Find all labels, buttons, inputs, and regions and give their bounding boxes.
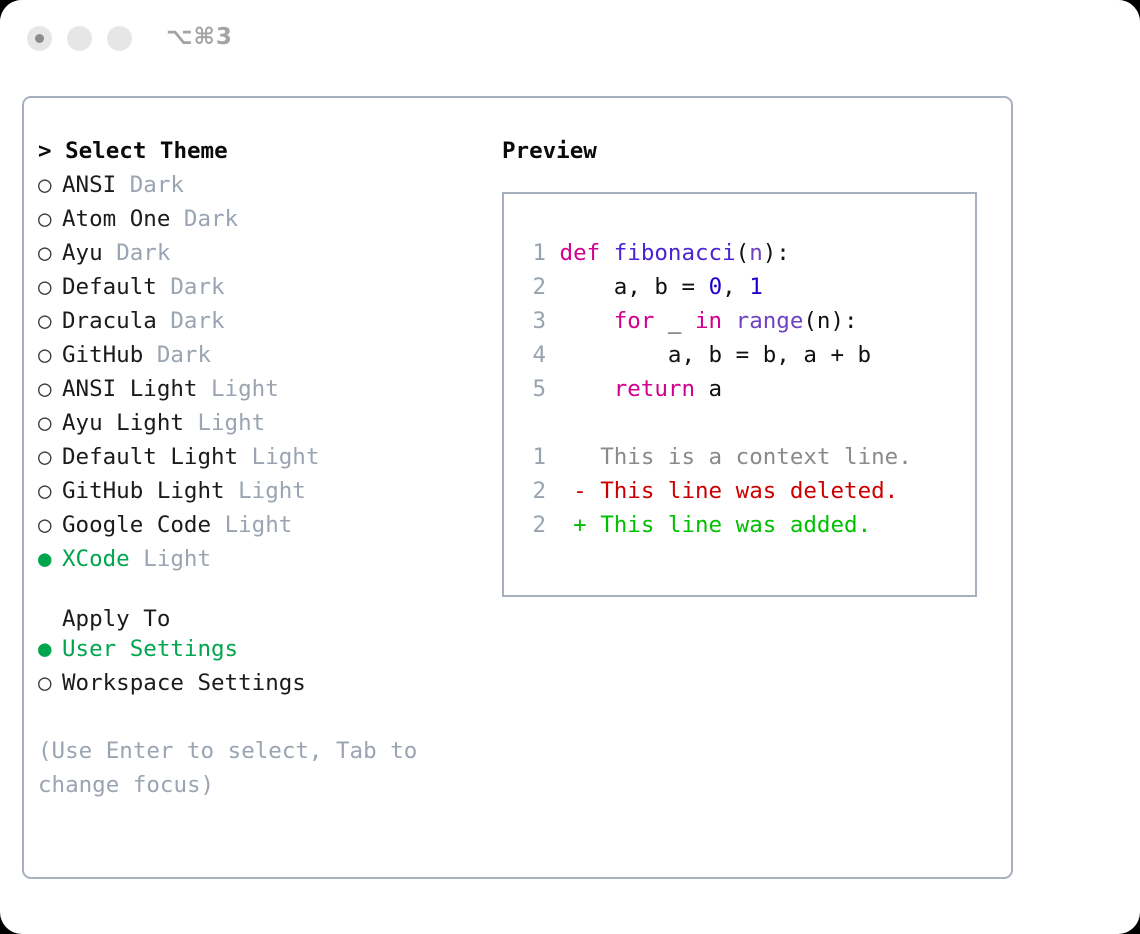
content-panel: > Select Theme ○ANSI Dark○Atom One Dark○… <box>22 96 1013 879</box>
line-number: 2 <box>520 474 546 508</box>
radio-unselected-icon[interactable]: ○ <box>38 236 62 270</box>
diff-line: 1 This is a context line. <box>520 440 969 474</box>
radio-unselected-icon[interactable]: ○ <box>38 338 62 372</box>
diff-text: This line was deleted. <box>600 478 898 504</box>
theme-list-item[interactable]: ○Default Dark <box>38 270 478 304</box>
radio-unselected-icon[interactable]: ○ <box>38 304 62 338</box>
code-gutter-space <box>546 240 560 266</box>
line-number: 2 <box>520 508 546 542</box>
code-token: 0 <box>709 274 723 300</box>
radio-unselected-icon[interactable]: ○ <box>38 406 62 440</box>
code-token: a, b = b, a + b <box>560 342 872 368</box>
theme-variant: Dark <box>157 342 211 368</box>
radio-unselected-icon[interactable]: ○ <box>38 440 62 474</box>
theme-variant: Dark <box>170 274 224 300</box>
theme-variant: Light <box>211 376 279 402</box>
theme-name: GitHub Light <box>62 478 238 504</box>
keyboard-hint-text: (Use Enter to select, Tab to change focu… <box>38 734 438 802</box>
theme-variant: Dark <box>170 308 224 334</box>
code-token <box>560 376 614 402</box>
theme-variant: Light <box>143 546 211 572</box>
theme-variant: Dark <box>184 206 238 232</box>
line-number: 3 <box>520 304 546 338</box>
code-token: in <box>695 308 722 334</box>
preview-box: 1 def fibonacci(n):2 a, b = 0, 13 for _ … <box>502 192 977 597</box>
code-gutter-space <box>546 342 560 368</box>
code-line: 5 return a <box>520 372 969 406</box>
theme-list-item[interactable]: ○Dracula Dark <box>38 304 478 338</box>
radio-unselected-icon[interactable]: ○ <box>38 666 62 700</box>
radio-unselected-icon[interactable]: ○ <box>38 474 62 508</box>
theme-list-item[interactable]: ○Ayu Light Light <box>38 406 478 440</box>
theme-variant: Light <box>252 444 320 470</box>
line-number: 1 <box>520 440 546 474</box>
window-minimize-button[interactable] <box>67 26 92 51</box>
code-token <box>600 240 614 266</box>
radio-unselected-icon[interactable]: ○ <box>38 270 62 304</box>
select-theme-title: Select Theme <box>65 138 228 164</box>
select-theme-prefix: > <box>38 138 65 164</box>
code-token: ): <box>763 240 790 266</box>
theme-variant: Dark <box>130 172 184 198</box>
code-token: for <box>614 308 655 334</box>
code-token: n <box>749 240 763 266</box>
theme-name: XCode <box>62 546 143 572</box>
line-number: 2 <box>520 270 546 304</box>
code-token: fibonacci <box>614 240 736 266</box>
diff-line: 2 + This line was added. <box>520 508 969 542</box>
code-line: 1 def fibonacci(n): <box>520 236 969 270</box>
code-token: _ <box>654 308 695 334</box>
code-token: , <box>722 274 749 300</box>
theme-variant: Dark <box>116 240 170 266</box>
theme-name: ANSI Light <box>62 376 211 402</box>
code-line: 4 a, b = b, a + b <box>520 338 969 372</box>
theme-name: Dracula <box>62 308 170 334</box>
theme-name: Default <box>62 274 170 300</box>
theme-variant: Light <box>197 410 265 436</box>
code-line: 2 a, b = 0, 1 <box>520 270 969 304</box>
code-gutter-space <box>546 308 560 334</box>
code-token: return <box>614 376 695 402</box>
radio-unselected-icon[interactable]: ○ <box>38 168 62 202</box>
code-token: ( <box>736 240 750 266</box>
apply-to-item[interactable]: ●User Settings <box>38 632 478 666</box>
window-maximize-button[interactable] <box>107 26 132 51</box>
theme-list-item[interactable]: ●XCode Light <box>38 542 478 576</box>
code-token: a <box>695 376 722 402</box>
apply-to-label: User Settings <box>62 636 238 662</box>
theme-name: Atom One <box>62 206 184 232</box>
apply-to-list: ●User Settings○Workspace Settings <box>38 632 478 700</box>
code-token: (n): <box>803 308 857 334</box>
select-theme-heading: > Select Theme <box>38 134 478 168</box>
theme-name: GitHub <box>62 342 157 368</box>
theme-name: Ayu Light <box>62 410 197 436</box>
diff-text: This line was added. <box>600 512 871 538</box>
code-diff-separator <box>520 406 969 440</box>
diff-line: 2 - This line was deleted. <box>520 474 969 508</box>
radio-unselected-icon[interactable]: ○ <box>38 372 62 406</box>
line-number: 1 <box>520 236 546 270</box>
theme-selection-column: > Select Theme ○ANSI Dark○Atom One Dark○… <box>38 134 478 802</box>
preview-column: Preview 1 def fibonacci(n):2 a, b = 0, 1… <box>502 134 977 597</box>
theme-name: Default Light <box>62 444 252 470</box>
apply-to-label: Workspace Settings <box>62 670 306 696</box>
theme-list-item[interactable]: ○Ayu Dark <box>38 236 478 270</box>
radio-selected-icon[interactable]: ● <box>38 632 62 666</box>
window-close-button[interactable] <box>27 26 52 51</box>
line-number: 4 <box>520 338 546 372</box>
theme-name: ANSI <box>62 172 130 198</box>
code-token <box>560 308 614 334</box>
theme-list-item[interactable]: ○Google Code Light <box>38 508 478 542</box>
diff-sign: - <box>546 478 600 504</box>
theme-list-item[interactable]: ○ANSI Light Light <box>38 372 478 406</box>
diff-sign: + <box>546 512 600 538</box>
theme-variant: Light <box>238 478 306 504</box>
code-token: def <box>560 240 601 266</box>
code-gutter-space <box>546 274 560 300</box>
code-token <box>722 308 736 334</box>
line-number: 5 <box>520 372 546 406</box>
code-line: 3 for _ in range(n): <box>520 304 969 338</box>
app-window: ⌥⌘3 > Select Theme ○ANSI Dark○Atom One D… <box>0 0 1140 934</box>
theme-list-item[interactable]: ○ANSI Dark <box>38 168 478 202</box>
theme-name: Ayu <box>62 240 116 266</box>
theme-list-item[interactable]: ○GitHub Light Light <box>38 474 478 508</box>
code-gutter-space <box>546 376 560 402</box>
diff-text: This is a context line. <box>600 444 912 470</box>
radio-unselected-icon[interactable]: ○ <box>38 508 62 542</box>
theme-variant: Light <box>225 512 293 538</box>
code-token: a, b = <box>560 274 709 300</box>
theme-name: Google Code <box>62 512 225 538</box>
code-token: range <box>736 308 804 334</box>
theme-list: ○ANSI Dark○Atom One Dark○Ayu Dark○Defaul… <box>38 168 478 576</box>
diff-sign <box>546 444 600 470</box>
apply-to-item[interactable]: ○Workspace Settings <box>38 666 478 700</box>
theme-list-item[interactable]: ○Atom One Dark <box>38 202 478 236</box>
radio-selected-icon[interactable]: ● <box>38 542 62 576</box>
radio-unselected-icon[interactable]: ○ <box>38 202 62 236</box>
theme-list-item[interactable]: ○Default Light Light <box>38 440 478 474</box>
preview-heading: Preview <box>502 134 977 168</box>
title-bar: ⌥⌘3 <box>0 0 1140 78</box>
code-token: 1 <box>749 274 763 300</box>
code-preview-area: 1 def fibonacci(n):2 a, b = 0, 13 for _ … <box>520 236 969 542</box>
keyboard-shortcut-label: ⌥⌘3 <box>166 24 233 50</box>
theme-list-item[interactable]: ○GitHub Dark <box>38 338 478 372</box>
apply-to-heading: Apply To <box>38 606 478 632</box>
